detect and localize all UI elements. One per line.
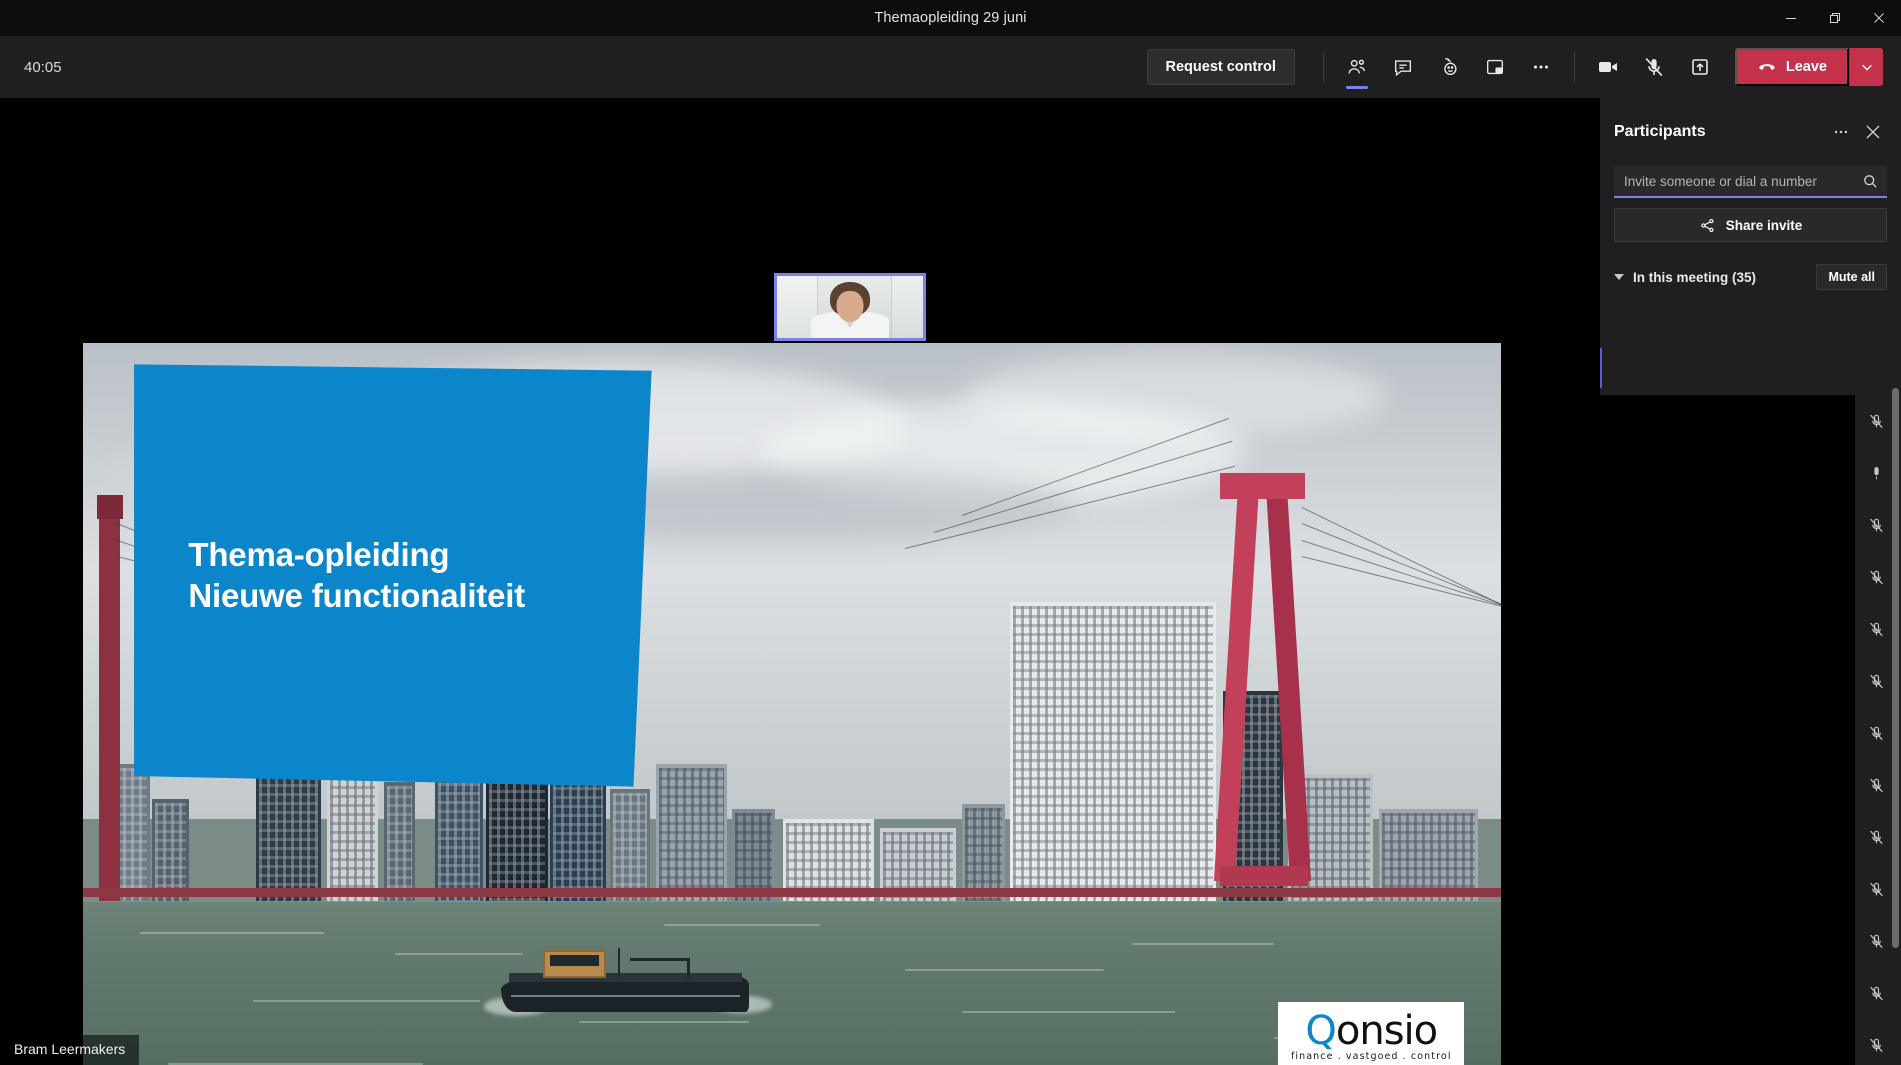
video-person-face bbox=[837, 291, 864, 322]
participant-row[interactable] bbox=[1600, 603, 1901, 655]
mute-all-button[interactable]: Mute all bbox=[1816, 264, 1887, 290]
toolbar-divider-1 bbox=[1323, 52, 1324, 82]
participant-mic-muted-icon[interactable] bbox=[1863, 412, 1889, 431]
participant-name-redacted bbox=[1600, 603, 1855, 655]
participant-row[interactable] bbox=[1600, 863, 1901, 915]
participant-name-redacted bbox=[1600, 499, 1855, 551]
participant-mic-muted-icon[interactable] bbox=[1863, 620, 1889, 639]
camera-icon[interactable] bbox=[1585, 43, 1631, 91]
search-icon[interactable] bbox=[1862, 173, 1879, 190]
qonsio-q: Q bbox=[1305, 1008, 1335, 1054]
title-bar: Themaopleiding 29 juni bbox=[0, 0, 1901, 36]
participant-name-redacted bbox=[1600, 759, 1855, 811]
participant-row[interactable] bbox=[1600, 967, 1901, 1019]
participants-scrollbar-thumb[interactable] bbox=[1892, 388, 1899, 948]
participant-mic-muted-icon[interactable] bbox=[1863, 568, 1889, 587]
qonsio-tagline: finance . vastgoed . control bbox=[1286, 1051, 1456, 1062]
participant-row[interactable] bbox=[1600, 551, 1901, 603]
participants-panel-actions bbox=[1827, 118, 1887, 146]
collapse-triangle-icon[interactable] bbox=[1614, 274, 1624, 280]
participant-name-redacted bbox=[1600, 1019, 1855, 1065]
slide-title: Thema-opleiding Nieuwe functionaliteit bbox=[188, 534, 525, 618]
participant-name-redacted bbox=[1600, 551, 1855, 603]
presenter-name-label: Bram Leermakers bbox=[0, 1035, 139, 1065]
participant-name-redacted bbox=[1600, 863, 1855, 915]
share-invite-button[interactable]: Share invite bbox=[1614, 208, 1887, 242]
participant-row[interactable] bbox=[1600, 447, 1901, 499]
chevron-down-icon bbox=[1860, 60, 1874, 74]
participants-panel-title: Participants bbox=[1614, 123, 1706, 141]
video-bg-right bbox=[891, 276, 923, 338]
participant-name-redacted bbox=[1600, 915, 1855, 967]
participant-mic-muted-icon[interactable] bbox=[1863, 516, 1889, 535]
participants-panel-header: Participants bbox=[1600, 98, 1901, 152]
in-this-meeting-section: In this meeting (35) Mute all bbox=[1614, 264, 1887, 290]
participant-mic-unmuted-icon[interactable] bbox=[1863, 464, 1889, 483]
window-controls bbox=[1769, 0, 1901, 36]
participant-row[interactable] bbox=[1600, 395, 1901, 447]
participant-mic-muted-icon[interactable] bbox=[1863, 776, 1889, 795]
participant-name-redacted bbox=[1600, 395, 1855, 447]
people-icon[interactable] bbox=[1334, 43, 1380, 91]
request-control-button[interactable]: Request control bbox=[1147, 49, 1295, 85]
participant-name-redacted bbox=[1600, 447, 1855, 499]
meeting-timer: 40:05 bbox=[24, 59, 62, 76]
participant-mic-muted-icon[interactable] bbox=[1863, 672, 1889, 691]
participant-mic-muted-icon[interactable] bbox=[1863, 984, 1889, 1003]
more-options-icon[interactable] bbox=[1518, 43, 1564, 91]
teams-meeting-window: Themaopleiding 29 juni 40:05 Request con… bbox=[0, 0, 1901, 1065]
slide-photo-bridge-pylon-left bbox=[99, 511, 120, 937]
shared-content-slide[interactable]: Thema-opleiding Nieuwe functionaliteit Q… bbox=[83, 343, 1501, 1065]
participant-name-redacted bbox=[1600, 707, 1855, 759]
participants-scrollbar[interactable] bbox=[1892, 388, 1899, 1061]
participant-mic-muted-icon[interactable] bbox=[1863, 828, 1889, 847]
minimize-button[interactable] bbox=[1769, 0, 1813, 36]
leave-dropdown-caret[interactable] bbox=[1849, 48, 1883, 86]
chat-icon[interactable] bbox=[1380, 43, 1426, 91]
participants-panel: Participants bbox=[1600, 98, 1901, 1065]
slide-photo-barge bbox=[501, 950, 749, 1017]
participant-row[interactable] bbox=[1600, 655, 1901, 707]
meeting-toolbar: 40:05 Request control bbox=[0, 36, 1901, 98]
qonsio-onsio: onsio bbox=[1336, 1008, 1437, 1054]
panel-focus-indicator bbox=[1600, 348, 1602, 388]
participant-name-redacted bbox=[1600, 811, 1855, 863]
participant-mic-muted-icon[interactable] bbox=[1863, 880, 1889, 899]
participant-name-redacted bbox=[1600, 655, 1855, 707]
participant-row[interactable] bbox=[1600, 1019, 1901, 1065]
share-icon bbox=[1699, 217, 1716, 234]
breakout-rooms-icon[interactable] bbox=[1472, 43, 1518, 91]
close-button[interactable] bbox=[1857, 0, 1901, 36]
panel-more-options-icon[interactable] bbox=[1827, 118, 1855, 146]
reactions-icon[interactable] bbox=[1426, 43, 1472, 91]
participant-row[interactable] bbox=[1600, 759, 1901, 811]
qonsio-wordmark: Qonsio bbox=[1286, 1012, 1456, 1050]
participant-row[interactable] bbox=[1600, 915, 1901, 967]
microphone-muted-icon[interactable] bbox=[1631, 43, 1677, 91]
qonsio-logo: Qonsio finance . vastgoed . control bbox=[1278, 1002, 1464, 1065]
share-invite-label: Share invite bbox=[1726, 218, 1803, 233]
toolbar-right-group: Request control bbox=[1147, 36, 1901, 98]
participants-list bbox=[1600, 395, 1901, 1065]
leave-button[interactable]: Leave bbox=[1735, 48, 1849, 86]
share-content-icon[interactable] bbox=[1677, 43, 1723, 91]
hangup-icon bbox=[1757, 57, 1777, 77]
slide-title-panel: Thema-opleiding Nieuwe functionaliteit bbox=[134, 364, 652, 786]
leave-button-label: Leave bbox=[1786, 59, 1827, 75]
participant-video-thumbnail[interactable] bbox=[774, 273, 926, 341]
participant-name-redacted bbox=[1600, 967, 1855, 1019]
invite-search-field[interactable] bbox=[1614, 166, 1887, 198]
invite-search-input[interactable] bbox=[1624, 174, 1862, 189]
leave-group: Leave bbox=[1735, 48, 1883, 86]
participant-mic-muted-icon[interactable] bbox=[1863, 1036, 1889, 1055]
participant-row[interactable] bbox=[1600, 707, 1901, 759]
participant-row[interactable] bbox=[1600, 499, 1901, 551]
panel-close-icon[interactable] bbox=[1859, 118, 1887, 146]
in-this-meeting-label: In this meeting (35) bbox=[1633, 270, 1756, 285]
participant-mic-muted-icon[interactable] bbox=[1863, 724, 1889, 743]
window-title: Themaopleiding 29 juni bbox=[874, 10, 1026, 26]
meeting-stage: Thema-opleiding Nieuwe functionaliteit Q… bbox=[0, 98, 1600, 1065]
slide-logos: Qonsio finance . vastgoed . control ORTE… bbox=[1278, 1002, 1464, 1065]
toolbar-divider-2 bbox=[1574, 52, 1575, 82]
restore-button[interactable] bbox=[1813, 0, 1857, 36]
participant-row[interactable] bbox=[1600, 811, 1901, 863]
video-feed bbox=[777, 276, 923, 338]
participant-mic-muted-icon[interactable] bbox=[1863, 932, 1889, 951]
